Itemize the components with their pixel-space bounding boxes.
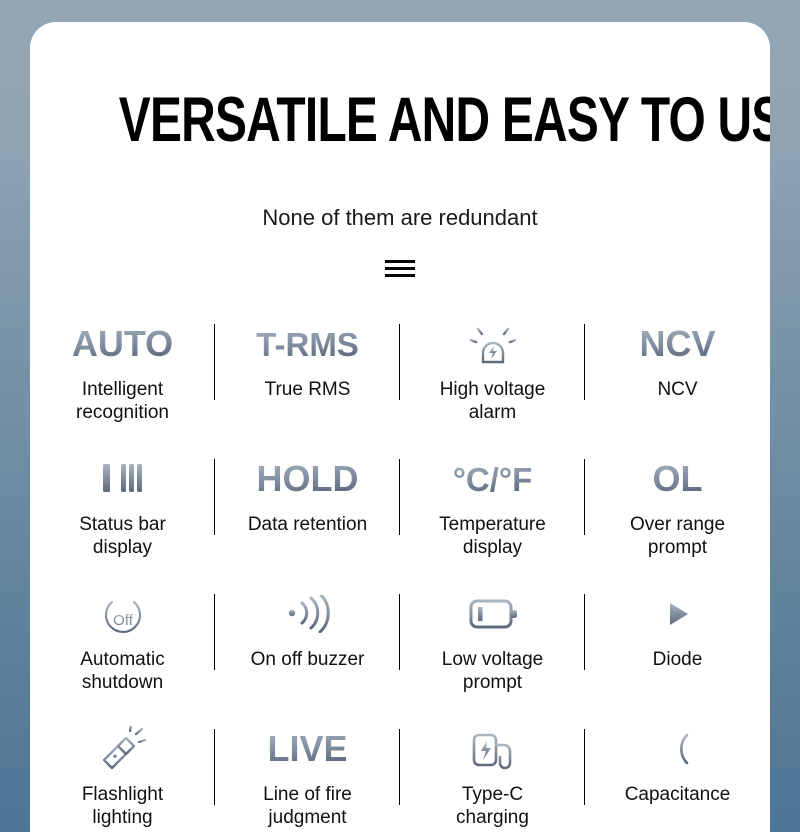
feature-grid: AUTOIntelligentrecognitionT-RMSTrue RMSH… (30, 310, 770, 832)
feature-label: Diode (653, 648, 703, 671)
feature-label: Type-Ccharging (456, 783, 529, 829)
feature-label: Data retention (248, 513, 367, 536)
feature-label: Flashlightlighting (82, 783, 163, 829)
typec-charging-icon (470, 721, 516, 777)
auto-text: AUTO (72, 316, 173, 372)
feature-item: OLOver rangeprompt (585, 445, 770, 580)
page-root: VERSATILE AND EASY TO USE None of them a… (0, 0, 800, 832)
feature-item: Capacitance (585, 715, 770, 832)
feature-item: Low voltageprompt (400, 580, 585, 715)
feature-label: High voltagealarm (440, 378, 546, 424)
feature-item: High voltagealarm (400, 310, 585, 445)
feature-card: VERSATILE AND EASY TO USE None of them a… (30, 22, 770, 832)
feature-label: NCV (657, 378, 697, 401)
feature-item: °C/°FTemperaturedisplay (400, 445, 585, 580)
feature-item: On off buzzer (215, 580, 400, 715)
ncv-text: NCV (639, 316, 715, 372)
feature-item: NCVNCV (585, 310, 770, 445)
feature-label: Low voltageprompt (442, 648, 543, 694)
page-subtitle: None of them are redundant (30, 205, 770, 231)
feature-item: Flashlightlighting (30, 715, 215, 832)
temperature-text: °C/°F (453, 451, 533, 507)
buzzer-waves-icon (285, 586, 331, 642)
feature-label: Status bardisplay (79, 513, 166, 559)
feature-item: Diode (585, 580, 770, 715)
t-rms-text: T-RMS (256, 316, 359, 372)
svg-text:Off: Off (113, 612, 134, 629)
page-title: VERSATILE AND EASY TO USE (119, 88, 681, 152)
ol-text: OL (653, 451, 703, 507)
feature-label: Automaticshutdown (80, 648, 164, 694)
feature-label: True RMS (265, 378, 351, 401)
feature-item: AUTOIntelligentrecognition (30, 310, 215, 445)
feature-item: HOLDData retention (215, 445, 400, 580)
feature-item: LIVELine of firejudgment (215, 715, 400, 832)
capacitor-icon (653, 721, 703, 777)
feature-label: Temperaturedisplay (439, 513, 546, 559)
feature-label: Over rangeprompt (630, 513, 725, 559)
feature-label: On off buzzer (251, 648, 365, 671)
feature-item: Type-Ccharging (400, 715, 585, 832)
status-bars-icon (101, 451, 145, 507)
triple-bar-divider-icon (385, 260, 415, 277)
hold-text: HOLD (257, 451, 359, 507)
low-battery-icon (469, 586, 517, 642)
live-text: LIVE (267, 721, 347, 777)
power-off-icon: Off (99, 586, 147, 642)
feature-label: Intelligentrecognition (76, 378, 169, 424)
feature-label: Line of firejudgment (263, 783, 352, 829)
feature-label: Capacitance (625, 783, 731, 806)
feature-item: T-RMSTrue RMS (215, 310, 400, 445)
feature-item: OffAutomaticshutdown (30, 580, 215, 715)
siren-alarm-icon (469, 316, 517, 372)
flashlight-icon (98, 721, 148, 777)
diode-icon (654, 586, 702, 642)
feature-item: Status bardisplay (30, 445, 215, 580)
